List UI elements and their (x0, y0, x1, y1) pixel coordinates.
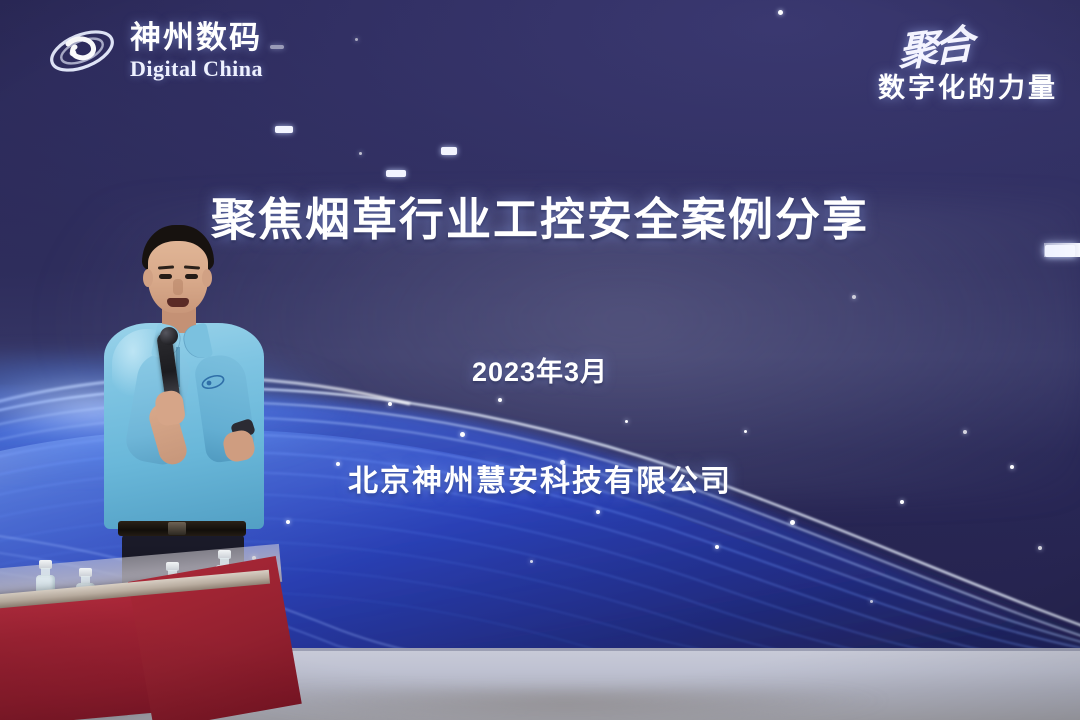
digital-china-logo: 神州数码 Digital China (46, 22, 263, 80)
particle-dot (963, 430, 967, 434)
particle-dot (870, 600, 873, 603)
speaker-eye-right (185, 274, 198, 279)
particle-dash (275, 126, 293, 133)
particle-dash (441, 147, 457, 155)
particle-dot (359, 152, 362, 155)
particle-dot (852, 295, 856, 299)
particle-dot (286, 520, 290, 524)
event-branding: 聚合 数字化的力量 (878, 16, 1058, 105)
swoosh-spiral-icon (46, 22, 118, 80)
logo-wordmark: 神州数码 Digital China (130, 22, 263, 80)
particle-dot (790, 520, 795, 525)
particle-dot (355, 38, 358, 41)
logo-name-en: Digital China (130, 58, 263, 80)
particle-dot (715, 545, 719, 549)
particle-dot (625, 420, 628, 423)
shirt-chest-logo-icon (200, 373, 226, 391)
particle-dot (778, 10, 783, 15)
particle-dot (900, 500, 904, 504)
particle-dot (596, 510, 600, 514)
particle-dash (386, 170, 406, 177)
logo-name-cn: 神州数码 (130, 22, 263, 53)
speaker-nose (173, 279, 183, 295)
event-calligraphy: 聚合 (898, 11, 970, 78)
particle-dot (460, 432, 465, 437)
particle-dot (388, 402, 392, 406)
speaker-ear-right (202, 269, 212, 287)
particle-dash (270, 45, 284, 49)
speaker-eye-left (159, 274, 172, 279)
stage-floor-shadow (250, 688, 950, 720)
particle-dot (498, 398, 502, 402)
speaker-belt-buckle (168, 522, 186, 535)
conference-photo: 神州数码 Digital China 聚合 数字化的力量 聚焦烟草行业工控安全案… (0, 0, 1080, 720)
particle-dot (530, 560, 533, 563)
speaker-mouth (167, 298, 189, 307)
speaker-ear-left (143, 269, 153, 287)
particle-dot (744, 430, 747, 433)
particle-dot (1038, 546, 1042, 550)
